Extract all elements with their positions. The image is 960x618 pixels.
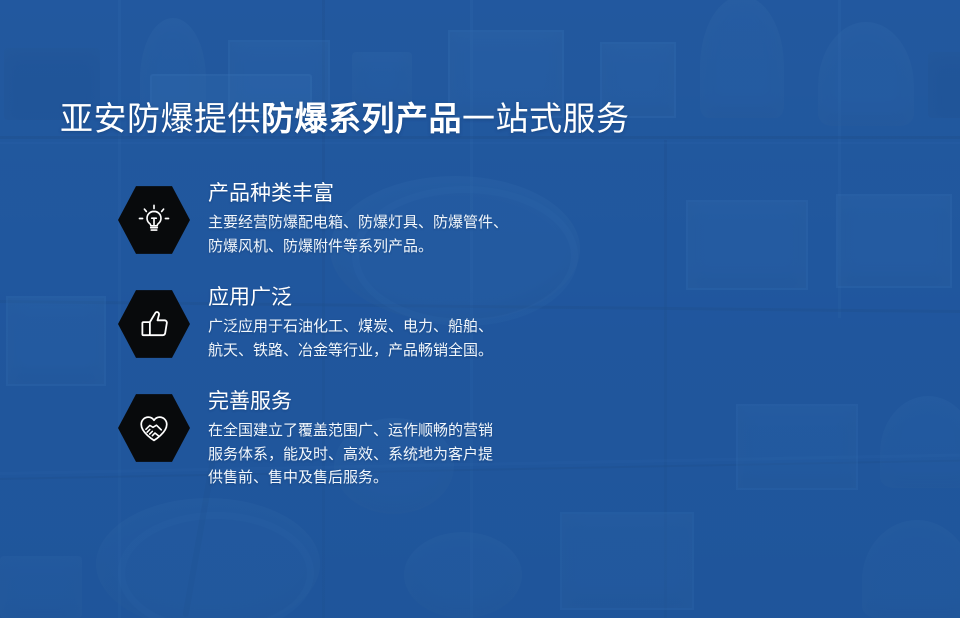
feature-title: 完善服务 xyxy=(208,388,493,416)
feature-text: 完善服务 在全国建立了覆盖范围广、运作顺畅的营销 服务体系，能及时、高效、系统地… xyxy=(208,386,493,490)
feature-item: 完善服务 在全国建立了覆盖范围广、运作顺畅的营销 服务体系，能及时、高效、系统地… xyxy=(118,386,508,490)
feature-icon-badge xyxy=(118,184,190,256)
headline-lead: 亚安防爆提供 xyxy=(60,100,261,137)
handshake-heart-icon xyxy=(136,410,172,446)
feature-icon-badge xyxy=(118,288,190,360)
feature-text: 应用广泛 广泛应用于石油化工、煤炭、电力、船舶、 航天、铁路、冶金等行业，产品畅… xyxy=(208,282,493,362)
feature-description: 主要经营防爆配电箱、防爆灯具、防爆管件、 防爆风机、防爆附件等系列产品。 xyxy=(208,211,508,258)
hexagon-shape xyxy=(118,392,190,464)
feature-item: 产品种类丰富 主要经营防爆配电箱、防爆灯具、防爆管件、 防爆风机、防爆附件等系列… xyxy=(118,178,508,258)
hexagon-shape xyxy=(118,288,190,360)
feature-item: 应用广泛 广泛应用于石油化工、煤炭、电力、船舶、 航天、铁路、冶金等行业，产品畅… xyxy=(118,282,508,362)
feature-title: 应用广泛 xyxy=(208,284,493,312)
thumbs-up-icon xyxy=(136,306,172,342)
banner-content: 亚安防爆提供防爆系列产品一站式服务 产 xyxy=(0,0,960,618)
feature-description: 在全国建立了覆盖范围广、运作顺畅的营销 服务体系，能及时、高效、系统地为客户提 … xyxy=(208,419,493,490)
feature-title: 产品种类丰富 xyxy=(208,180,508,208)
headline-tail: 一站式服务 xyxy=(462,100,630,137)
page-title: 亚安防爆提供防爆系列产品一站式服务 xyxy=(60,98,630,140)
lightbulb-icon xyxy=(136,202,172,238)
promo-banner: 亚安防爆提供防爆系列产品一站式服务 产 xyxy=(0,0,960,618)
hexagon-shape xyxy=(118,184,190,256)
feature-list: 产品种类丰富 主要经营防爆配电箱、防爆灯具、防爆管件、 防爆风机、防爆附件等系列… xyxy=(118,178,508,514)
feature-icon-badge xyxy=(118,392,190,464)
feature-description: 广泛应用于石油化工、煤炭、电力、船舶、 航天、铁路、冶金等行业，产品畅销全国。 xyxy=(208,315,493,362)
headline-emphasis: 防爆系列产品 xyxy=(261,100,462,137)
feature-text: 产品种类丰富 主要经营防爆配电箱、防爆灯具、防爆管件、 防爆风机、防爆附件等系列… xyxy=(208,178,508,258)
